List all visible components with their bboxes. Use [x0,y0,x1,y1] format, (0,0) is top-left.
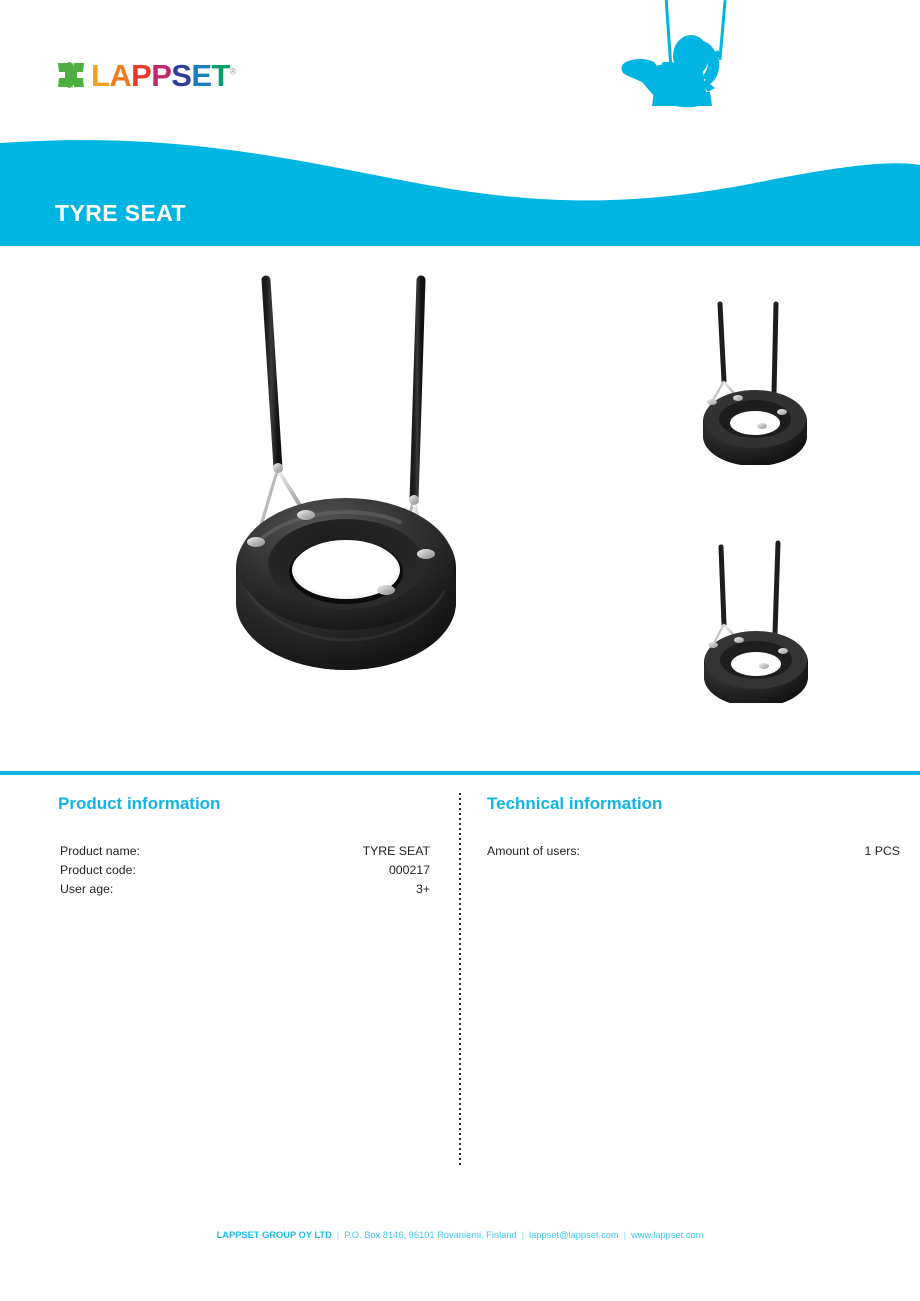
table-row: Amount of users: 1 PCS [487,841,900,860]
product-thumbnail-1[interactable] [688,290,822,465]
footer-address: P.O. Box 8146, 96101 Rovaniemi, Finland [344,1230,516,1240]
logo-letter-1: L [91,58,109,93]
lappset-clover-mark-icon [58,62,84,88]
table-row: Product code: 000217 [58,860,430,879]
section-divider [0,771,920,775]
main-product-image[interactable] [218,272,474,700]
footer-company-name: LAPPSET GROUP OY LTD [217,1230,332,1240]
logo-letter-7: T [211,58,229,93]
column-divider [459,793,461,1165]
table-row: Product name: TYRE SEAT [58,841,430,860]
product-information-table: Product name: TYRE SEAT Product code: 00… [58,841,430,898]
logo-letter-3: P [131,58,151,93]
logo-letter-2: A [109,58,131,93]
product-thumbnail-2[interactable] [688,521,822,703]
footer-separator: | [619,1230,631,1240]
spec-value: 3+ [259,879,430,898]
page-header: LAPPSET® TYRE SEAT [0,0,920,246]
spec-label: Amount of users: [487,841,786,860]
spec-label: Product code: [58,860,259,879]
logo-letter-4: P [151,58,171,93]
logo-letter-5: S [171,58,191,93]
technical-information-table: Amount of users: 1 PCS [487,841,900,860]
spec-value: 000217 [259,860,430,879]
product-information-section: Product information Product name: TYRE S… [58,795,430,898]
technical-information-heading: Technical information [487,795,900,812]
spec-label: User age: [58,879,259,898]
table-row: User age: 3+ [58,879,430,898]
footer-email[interactable]: lappset@lappset.com [529,1230,619,1240]
footer-website[interactable]: www.lappset.com [631,1230,703,1240]
child-on-swing-silhouette-icon [590,0,780,140]
lappset-logo[interactable]: LAPPSET® [58,58,236,92]
page-footer: LAPPSET GROUP OY LTD|P.O. Box 8146, 9610… [0,1230,920,1241]
product-information-heading: Product information [58,795,430,812]
spec-value: TYRE SEAT [259,841,430,860]
product-datasheet-page: LAPPSET® TYRE SEAT [0,0,920,1301]
spec-value: 1 PCS [786,841,900,860]
footer-separator: | [332,1230,344,1240]
page-title: TYRE SEAT [55,202,186,225]
product-image-gallery [0,246,920,773]
lappset-wordmark: LAPPSET® [91,60,236,91]
registered-trademark-mark: ® [230,66,236,76]
logo-letter-6: E [191,58,211,93]
footer-separator: | [517,1230,529,1240]
technical-information-section: Technical information Amount of users: 1… [487,795,900,860]
spec-label: Product name: [58,841,259,860]
